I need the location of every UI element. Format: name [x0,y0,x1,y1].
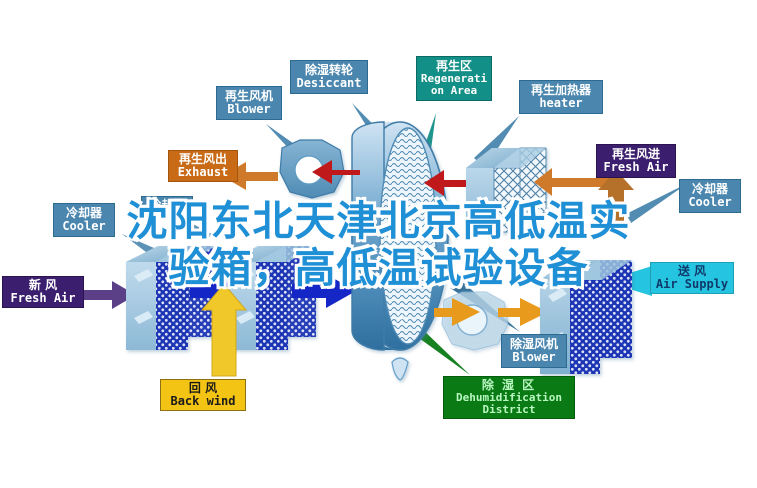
callout-regeneration-heater-en: heater [524,97,598,110]
callout-exhaust-en: Exhaust [173,166,233,179]
regen-blower-housing [280,140,344,198]
callout-cooler-left-back: 冷却器 [141,196,193,214]
callout-desiccant-wheel: 除湿转轮 Desiccant [290,60,368,94]
callout-regeneration-blower: 再生风机 Blower [216,86,282,120]
callout-desiccant-wheel-cn: 除湿转轮 [295,64,363,77]
callout-air-supply-cn: 送 风 [655,265,729,278]
dehumidifier-schematic-artwork: xt [0,0,757,488]
callout-regeneration-fresh-air: 再生风进 Fresh Air [596,144,676,178]
callout-cooler-right-en: Cooler [684,196,736,209]
callout-cooler-left-front-cn: 冷却器 [58,207,110,220]
callout-regeneration-heater: 再生加热器 heater [519,80,603,114]
watermark-text: xt [396,309,409,326]
callout-desiccant-wheel-en: Desiccant [295,77,363,90]
callout-regeneration-blower-en: Blower [221,103,277,116]
callout-dehumidification-district: 除 湿 区 Dehumidification District [443,376,575,419]
callout-fresh-air-inlet-cn: 新 风 [7,279,79,292]
callout-exhaust-cn: 再生风出 [173,153,233,166]
callout-back-wind-en: Back wind [165,395,241,408]
callout-cooler-right: 冷却器 Cooler [679,179,741,213]
callout-regeneration-area: 再生区 Regenerati on Area [416,56,492,101]
callout-back-wind-cn: 回 风 [165,382,241,395]
dehum-blower-housing [442,292,508,350]
callout-regeneration-heater-cn: 再生加热器 [524,84,598,97]
callout-cooler-left-back-cn: 冷却器 [145,199,189,211]
callout-air-supply-en: Air Supply [655,278,729,291]
regen-heater-coil [466,148,546,232]
callout-regeneration-area-en-2: on Area [420,85,488,97]
callout-cooler-left-front: 冷却器 Cooler [53,203,115,237]
callout-dehumidification-district-cn: 除 湿 区 [448,379,570,392]
callout-exhaust: 再生风出 Exhaust [168,150,238,182]
callout-fresh-air-inlet: 新 风 Fresh Air [2,276,84,308]
callout-dehumidification-blower-cn: 除湿风机 [506,338,562,351]
diagram-canvas: xt 除湿转轮 Desiccant 再生风机 Blower 再生区 Regene… [0,0,757,488]
callout-cooler-left-front-en: Cooler [58,220,110,233]
callout-back-wind: 回 风 Back wind [160,379,246,411]
callout-cooler-right-cn: 冷却器 [684,183,736,196]
callout-air-supply: 送 风 Air Supply [650,262,734,294]
callout-dehumidification-blower-en: Blower [506,351,562,364]
callout-fresh-air-inlet-en: Fresh Air [7,292,79,305]
callout-regeneration-fresh-air-cn: 再生风进 [601,148,671,161]
callout-dehumidification-district-en-2: District [448,404,570,416]
callout-dehumidification-blower: 除湿风机 Blower [501,334,567,368]
callout-regeneration-area-cn: 再生区 [420,60,488,73]
callout-regeneration-fresh-air-en: Fresh Air [601,161,671,174]
callout-regeneration-blower-cn: 再生风机 [221,90,277,103]
